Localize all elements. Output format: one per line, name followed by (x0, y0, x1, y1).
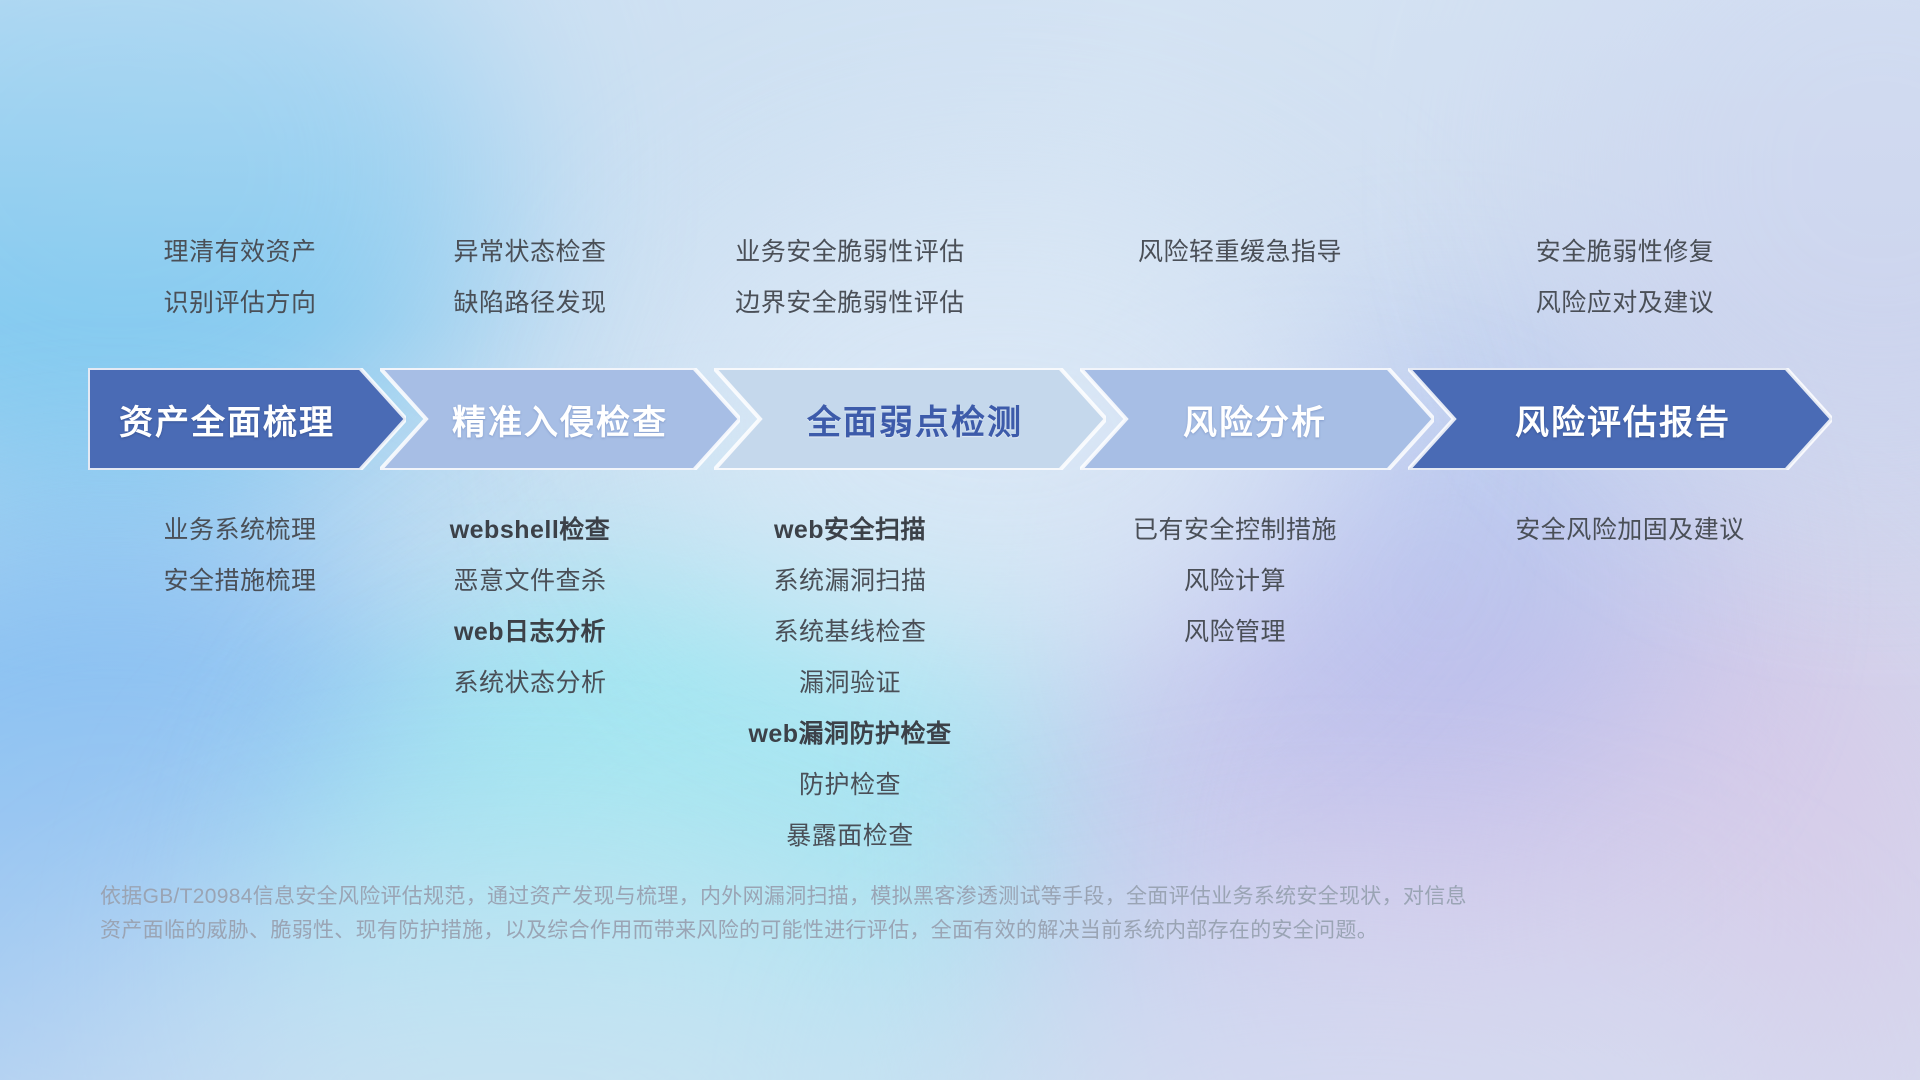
top-note: 边界安全脆弱性评估 (670, 291, 1030, 316)
bottom-note: 系统状态分析 (380, 671, 680, 696)
bottom-note: 系统基线检查 (690, 620, 1010, 645)
stage-label: 风险分析 (1080, 395, 1434, 444)
top-note: 理清有效资产 (90, 240, 390, 265)
bottom-notes-column-3: web安全扫描 系统漏洞扫描 系统基线检查 漏洞验证 web漏洞防护检查 防护检… (690, 518, 1010, 875)
stage-label: 风险评估报告 (1408, 395, 1832, 444)
top-note: 缺陷路径发现 (380, 291, 680, 316)
top-note: 风险应对及建议 (1415, 291, 1835, 316)
top-notes-column-2: 异常状态检查 缺陷路径发现 (380, 240, 680, 342)
stage-chevron-4[interactable]: 风险分析 (1080, 368, 1434, 470)
process-diagram: 理清有效资产 识别评估方向 异常状态检查 缺陷路径发现 业务安全脆弱性评估 边界… (0, 0, 1920, 1080)
top-note: 异常状态检查 (380, 240, 680, 265)
bottom-note: web漏洞防护检查 (690, 722, 1010, 747)
bottom-note: 已有安全控制措施 (1055, 518, 1415, 543)
stage-chevron-1[interactable]: 资产全面梳理 (88, 368, 406, 470)
bottom-notes-column-2: webshell检查 恶意文件查杀 web日志分析 系统状态分析 (380, 518, 680, 722)
bottom-notes-column-1: 业务系统梳理 安全措施梳理 (90, 518, 390, 620)
top-note: 业务安全脆弱性评估 (670, 240, 1030, 265)
top-note: 风险轻重缓急指导 (1070, 240, 1410, 265)
footer-line-1: 依据GB/T20984信息安全风险评估规范，通过资产发现与梳理，内外网漏洞扫描，… (100, 880, 1820, 914)
top-notes-column-4: 风险轻重缓急指导 (1070, 240, 1410, 291)
bottom-notes-column-5: 安全风险加固及建议 (1430, 518, 1830, 569)
bottom-note: 风险管理 (1055, 620, 1415, 645)
bottom-note: 业务系统梳理 (90, 518, 390, 543)
bottom-note: 系统漏洞扫描 (690, 569, 1010, 594)
bottom-note: web日志分析 (380, 620, 680, 645)
top-note: 识别评估方向 (90, 291, 390, 316)
bottom-note: 恶意文件查杀 (380, 569, 680, 594)
footer-description: 依据GB/T20984信息安全风险评估规范，通过资产发现与梳理，内外网漏洞扫描，… (100, 880, 1820, 948)
bottom-note: 安全措施梳理 (90, 569, 390, 594)
top-notes-column-1: 理清有效资产 识别评估方向 (90, 240, 390, 342)
stage-label: 精准入侵检查 (380, 395, 740, 444)
bottom-note: webshell检查 (380, 518, 680, 543)
bottom-note: 防护检查 (690, 773, 1010, 798)
bottom-note: 安全风险加固及建议 (1430, 518, 1830, 543)
stage-chevron-2[interactable]: 精准入侵检查 (380, 368, 740, 470)
top-notes-column-3: 业务安全脆弱性评估 边界安全脆弱性评估 (670, 240, 1030, 342)
footer-line-2: 资产面临的威胁、脆弱性、现有防护措施，以及综合作用而带来风险的可能性进行评估，全… (100, 914, 1820, 948)
stage-label: 资产全面梳理 (88, 395, 406, 444)
top-note: 安全脆弱性修复 (1415, 240, 1835, 265)
top-notes-column-5: 安全脆弱性修复 风险应对及建议 (1415, 240, 1835, 342)
stage-label: 全面弱点检测 (714, 395, 1106, 444)
bottom-notes-column-4: 已有安全控制措施 风险计算 风险管理 (1055, 518, 1415, 671)
bottom-note: 暴露面检查 (690, 824, 1010, 849)
stage-chevron-5[interactable]: 风险评估报告 (1408, 368, 1832, 470)
process-stage-band: 资产全面梳理 精准入侵检查 全面弱点检测 风险分析 (88, 368, 1832, 470)
stage-chevron-3[interactable]: 全面弱点检测 (714, 368, 1106, 470)
bottom-note: 风险计算 (1055, 569, 1415, 594)
bottom-note: web安全扫描 (690, 518, 1010, 543)
bottom-note: 漏洞验证 (690, 671, 1010, 696)
